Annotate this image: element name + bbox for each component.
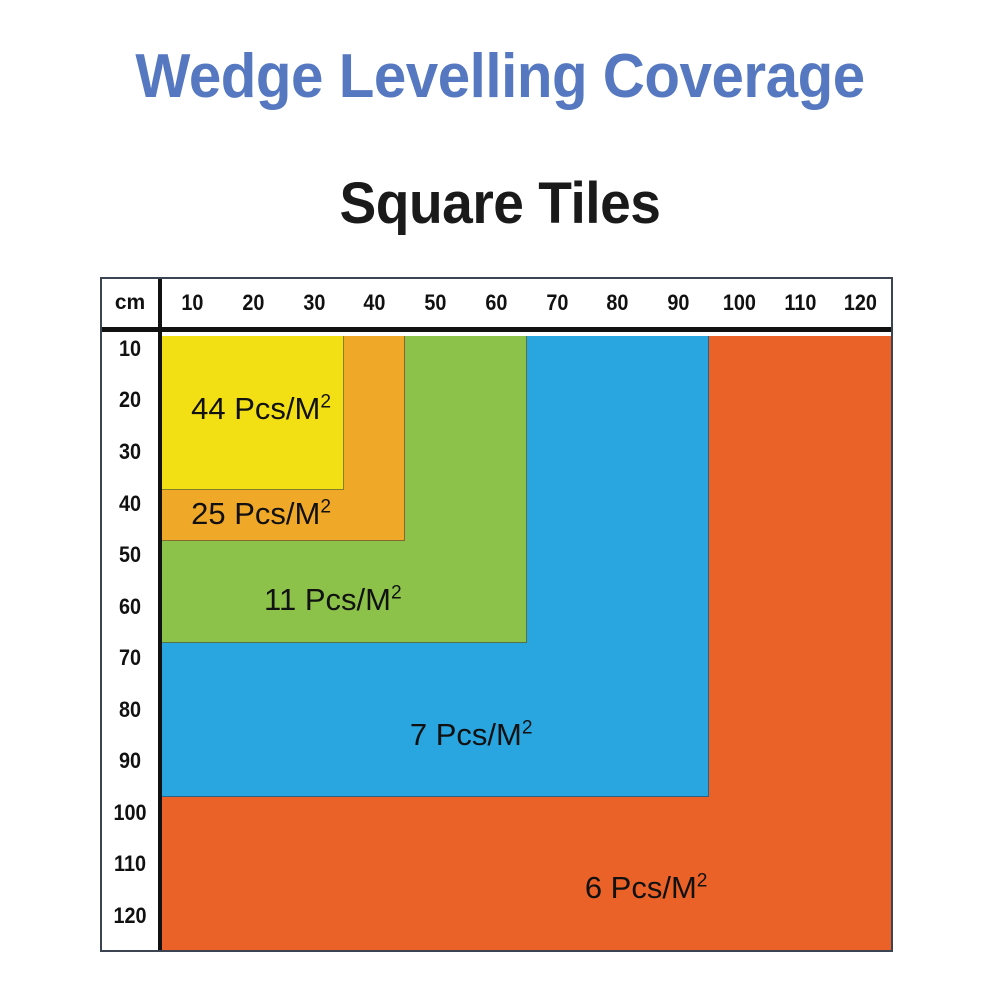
y-tick-90: 90 [105,748,155,774]
x-axis-tick-labels: 102030405060708090100110120 [162,279,891,327]
region-label-44: 44 Pcs/M2 [191,391,331,427]
y-tick-80: 80 [105,697,155,723]
y-tick-70: 70 [105,645,155,671]
page-title: Wedge Levelling Coverage [30,46,970,108]
y-tick-100: 100 [105,800,155,826]
x-tick-60: 60 [469,279,524,327]
x-tick-100: 100 [712,279,767,327]
coverage-chart: cm 102030405060708090100110120 102030405… [100,277,893,952]
x-tick-120: 120 [833,279,888,327]
plot-area: 44 Pcs/M225 Pcs/M211 Pcs/M27 Pcs/M26 Pcs… [162,336,891,950]
y-tick-120: 120 [105,903,155,929]
y-tick-20: 20 [105,387,155,413]
x-tick-70: 70 [530,279,585,327]
x-tick-40: 40 [347,279,402,327]
unit-label-cell: cm [102,279,162,327]
region-label-exponent: 2 [697,871,708,892]
region-label-11: 11 Pcs/M2 [264,582,402,618]
region-label-25: 25 Pcs/M2 [191,496,331,532]
infographic-canvas: Wedge Levelling Coverage Square Tiles cm… [0,0,1000,1000]
y-tick-40: 40 [105,491,155,517]
x-tick-30: 30 [287,279,342,327]
region-label-6: 6 Pcs/M2 [585,870,708,906]
region-label-text: 44 Pcs/M [191,391,320,426]
y-axis-tick-labels: 102030405060708090100110120 [102,332,162,950]
region-label-exponent: 2 [320,392,331,413]
region-label-text: 25 Pcs/M [191,496,320,531]
y-tick-30: 30 [105,439,155,465]
x-tick-80: 80 [590,279,645,327]
y-tick-50: 50 [105,542,155,568]
x-tick-20: 20 [226,279,281,327]
region-label-exponent: 2 [320,496,331,517]
region-label-exponent: 2 [522,717,533,738]
x-tick-50: 50 [408,279,463,327]
x-tick-90: 90 [651,279,706,327]
region-label-7: 7 Pcs/M2 [410,717,533,753]
y-tick-60: 60 [105,594,155,620]
region-label-text: 6 Pcs/M [585,870,697,905]
y-tick-10: 10 [105,336,155,362]
x-tick-110: 110 [773,279,828,327]
region-label-text: 11 Pcs/M [264,582,391,617]
region-label-exponent: 2 [391,582,402,603]
column-header-row: cm 102030405060708090100110120 [102,279,891,332]
region-label-text: 7 Pcs/M [410,717,522,752]
page-subtitle: Square Tiles [25,175,975,233]
x-tick-10: 10 [165,279,220,327]
y-tick-110: 110 [105,851,155,877]
